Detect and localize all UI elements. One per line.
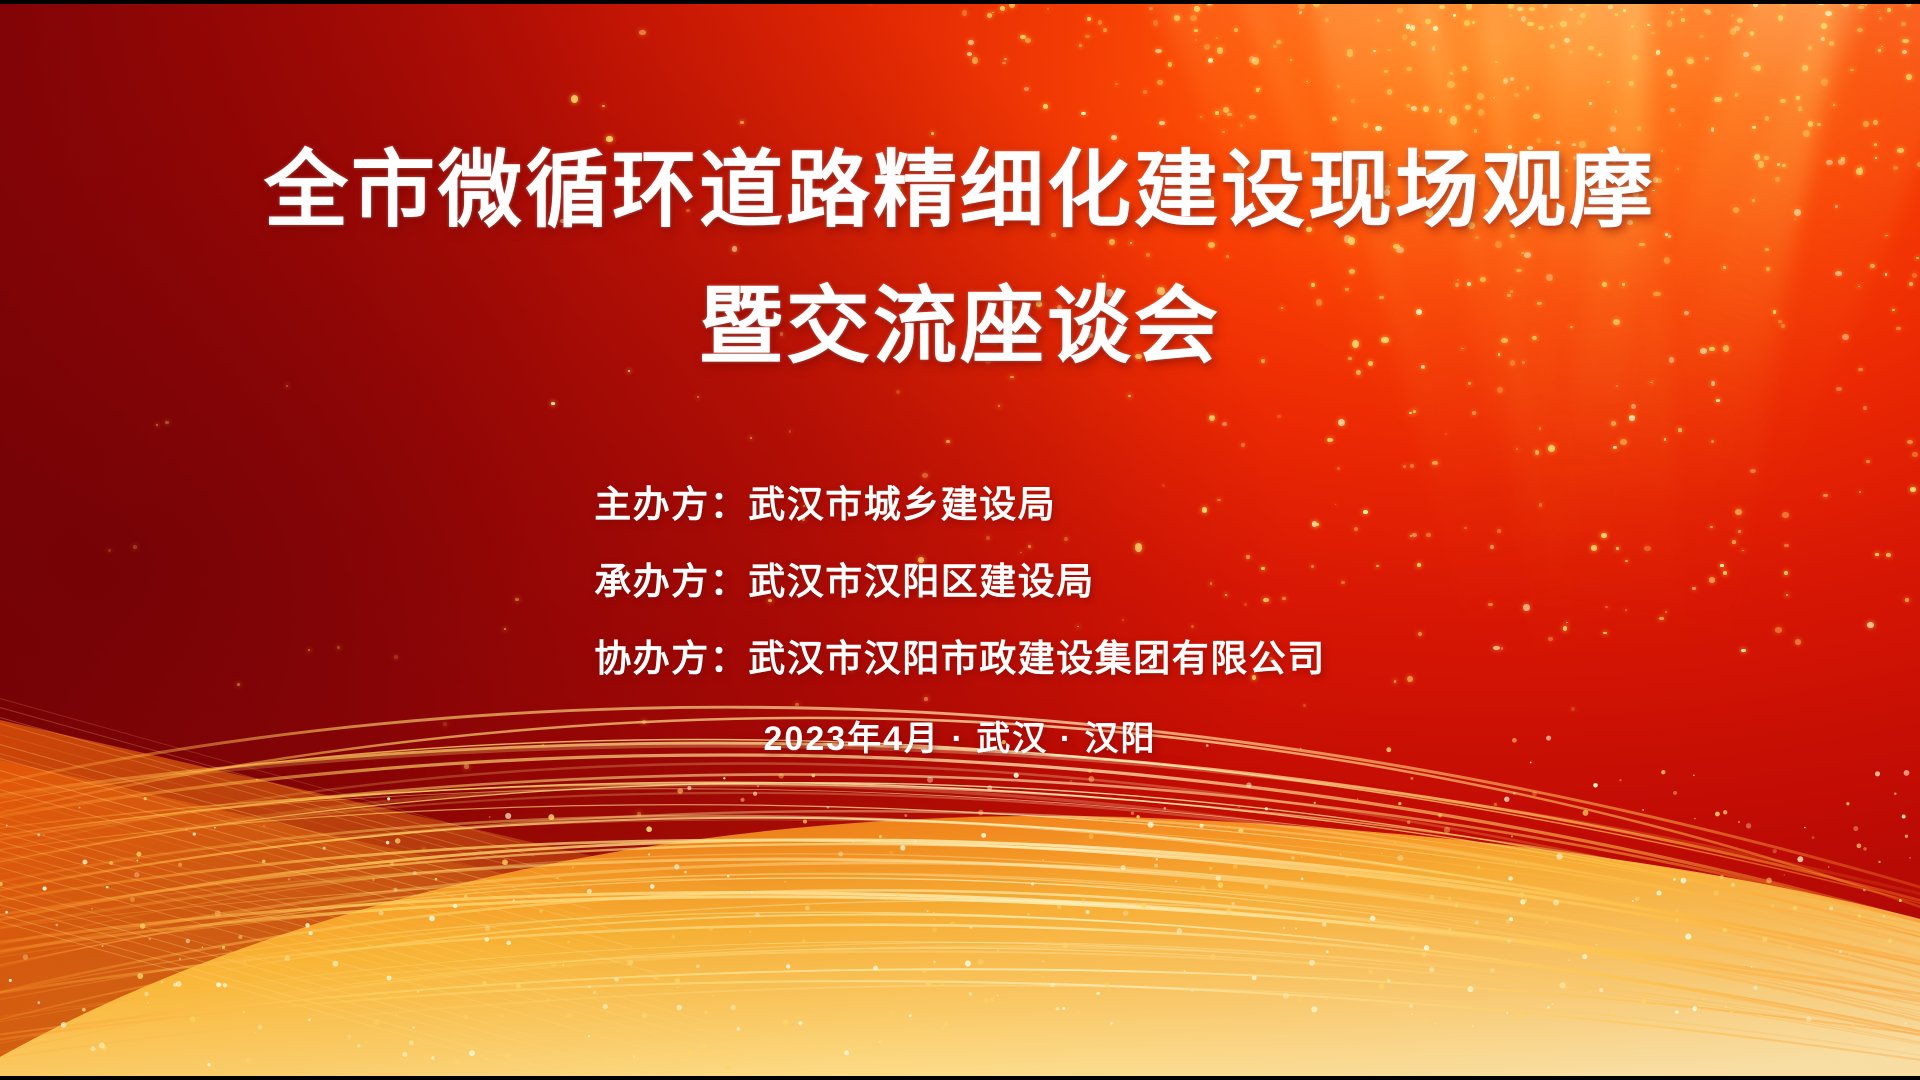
- title-line-2: 暨交流座谈会: [0, 284, 1920, 368]
- event-backdrop-banner: 全市微循环道路精细化建设现场观摩 暨交流座谈会 主办方：武汉市城乡建设局 承办方…: [0, 0, 1920, 1080]
- letterbox-bottom: [0, 1076, 1920, 1080]
- title-block: 全市微循环道路精细化建设现场观摩 暨交流座谈会: [0, 148, 1920, 368]
- banner-content: 全市微循环道路精细化建设现场观摩 暨交流座谈会 主办方：武汉市城乡建设局 承办方…: [0, 0, 1920, 1080]
- title-line-1: 全市微循环道路精细化建设现场观摩: [0, 148, 1920, 232]
- letterbox-top: [0, 0, 1920, 4]
- date-location-line: 2023年4月 · 武汉 · 汉阳: [764, 711, 1157, 760]
- organizer-block: 主办方：武汉市城乡建设局 承办方：武汉市汉阳区建设局 协办方：武汉市汉阳市政建设…: [594, 486, 1326, 677]
- organizer-line-host: 主办方：武汉市城乡建设局: [594, 486, 1326, 523]
- organizer-line-coorganizer: 协办方：武汉市汉阳市政建设集团有限公司: [594, 640, 1326, 677]
- organizer-line-undertaker: 承办方：武汉市汉阳区建设局: [594, 563, 1326, 600]
